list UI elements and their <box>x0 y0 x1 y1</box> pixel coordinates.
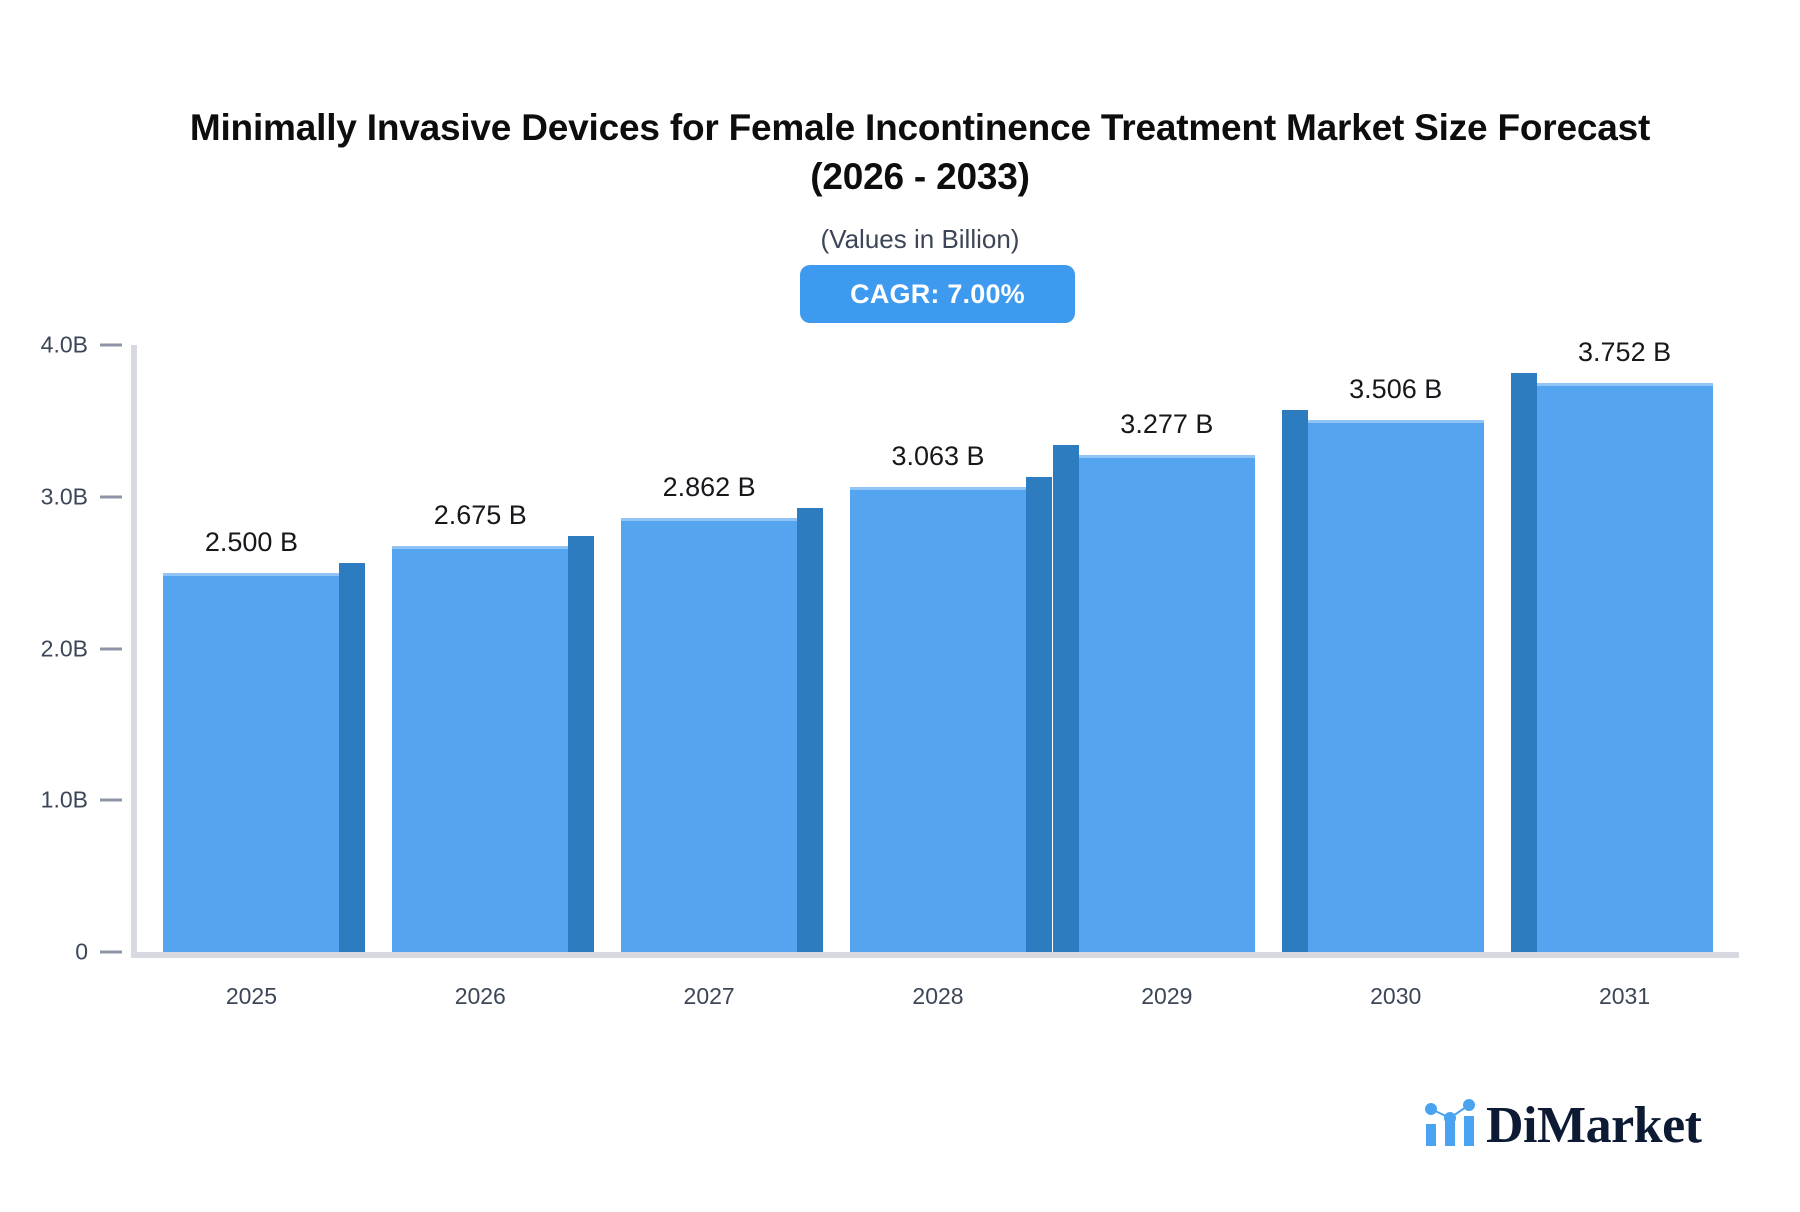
bar-top-face <box>621 518 797 521</box>
bar-chart-icon <box>1424 1098 1476 1153</box>
bar-side-face <box>1282 410 1308 952</box>
bar-front-face <box>392 546 568 952</box>
y-axis-tick-mark <box>100 951 122 954</box>
bar <box>163 573 339 952</box>
dimarket-logo: DiMarket <box>1424 1098 1701 1153</box>
y-axis-tick-label: 3.0B <box>0 483 88 510</box>
x-axis-tick-label: 2031 <box>1465 983 1785 1010</box>
bar-side-face <box>1053 445 1079 952</box>
bar <box>850 487 1026 952</box>
y-axis-tick-label: 2.0B <box>0 635 88 662</box>
y-axis-tick-mark <box>100 495 122 498</box>
bar-value-label: 2.500 B <box>91 527 411 558</box>
bar-top-face <box>1308 420 1484 423</box>
y-axis-tick-label: 4.0B <box>0 332 88 359</box>
bar <box>1308 420 1484 952</box>
bar-value-label: 3.063 B <box>778 441 1098 472</box>
bar-value-label: 3.277 B <box>1007 409 1327 440</box>
y-axis-line <box>131 345 137 957</box>
y-axis-tick-label: 1.0B <box>0 787 88 814</box>
bar-top-face <box>850 487 1026 490</box>
bar-value-label: 2.675 B <box>320 500 640 531</box>
bar-top-face <box>1079 455 1255 458</box>
bar-front-face <box>621 518 797 952</box>
bar-side-face <box>797 508 823 952</box>
y-axis-tick-mark <box>100 647 122 650</box>
bar-front-face <box>850 487 1026 952</box>
bar-side-face <box>1511 373 1537 952</box>
bar <box>621 518 797 952</box>
bar-chart: 01.0B2.0B3.0B4.0B 2.500 B2.675 B2.862 B3… <box>0 0 1800 1212</box>
y-axis-tick-mark <box>100 344 122 347</box>
y-axis-tick-mark <box>100 799 122 802</box>
logo-wordmark: DiMarket <box>1486 1100 1701 1152</box>
bar-front-face <box>1537 383 1713 952</box>
bar-top-face <box>392 546 568 549</box>
bar-value-label: 2.862 B <box>549 472 869 503</box>
bar-side-face <box>1026 477 1052 952</box>
bar-top-face <box>163 573 339 576</box>
bar-front-face <box>1308 420 1484 952</box>
bar-top-face <box>1537 383 1713 386</box>
bar <box>1537 383 1713 952</box>
bar-value-label: 3.752 B <box>1465 337 1785 368</box>
bar-side-face <box>339 563 365 952</box>
bar-value-label: 3.506 B <box>1236 374 1556 405</box>
bar <box>392 546 568 952</box>
y-axis-tick-label: 0 <box>0 939 88 966</box>
bar-side-face <box>568 536 594 952</box>
bar-front-face <box>1079 455 1255 952</box>
bar-front-face <box>163 573 339 952</box>
bar <box>1079 455 1255 952</box>
x-axis-line <box>131 952 1739 958</box>
